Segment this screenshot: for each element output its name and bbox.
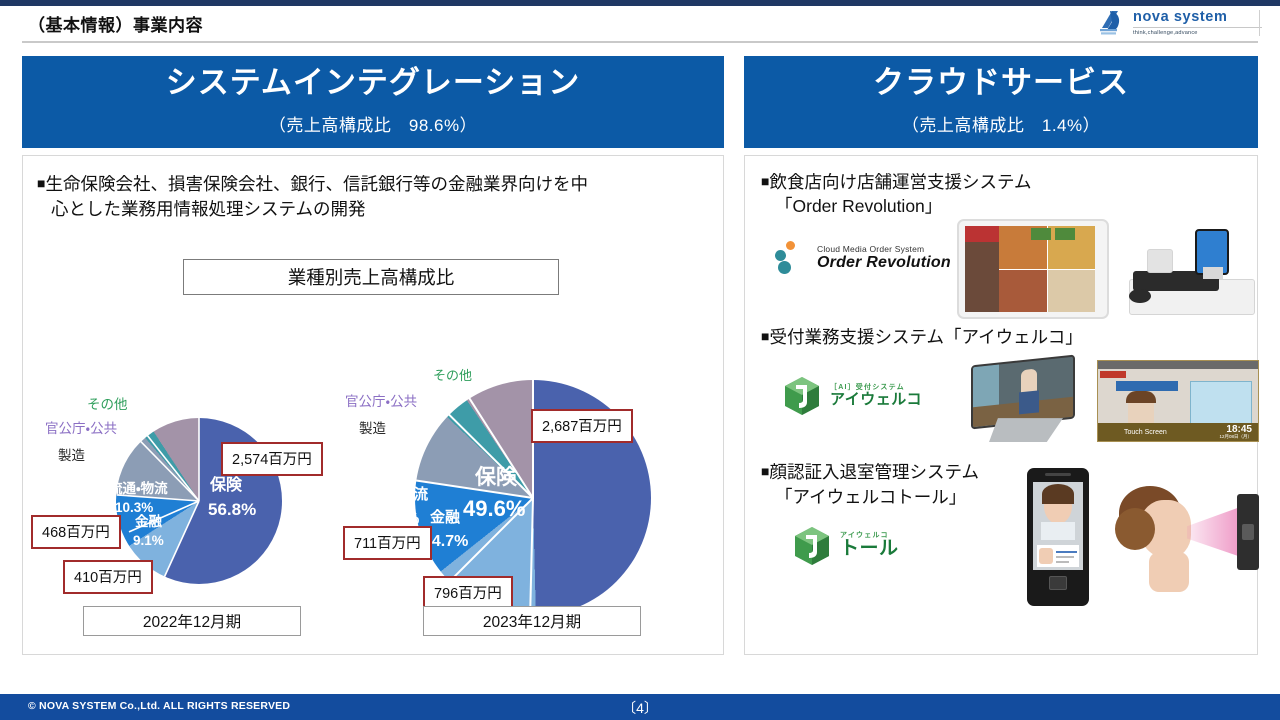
brand-logo-text: nova system think,challenge,advance [1133, 10, 1262, 35]
right-panel-header: クラウドサービス （売上高構成比 1.4%） [744, 56, 1258, 148]
brand-logo: nova system think,challenge,advance [1096, 6, 1262, 40]
order-revolution-logo-text: Cloud Media Order System Order Revolutio… [817, 244, 951, 272]
pie2023-label-seizo: 製造 [359, 421, 386, 437]
left-bullet-text: ■生命保険会社、損害保険会社、銀行、信託銀行等の金融業界向けを中 心とした業務用… [37, 172, 705, 223]
order-revolution-logo: Cloud Media Order System Order Revolutio… [775, 241, 951, 275]
iwelcome-logo: ［AI］受付システム アイウェルコ [783, 376, 922, 416]
nova-system-logo-icon [1096, 8, 1126, 38]
left-bullet-line1: 生命保険会社、損害保険会社、銀行、信託銀行等の金融業界向けを中 [45, 174, 588, 194]
left-panel-header: システムインテグレーション （売上高構成比 98.6%） [22, 56, 724, 148]
page-number: 〔4〕 [0, 698, 1280, 718]
page-title: （基本情報）事業内容 [28, 11, 203, 36]
iwelcome-toll-logo-text: アイウェルコ トール [840, 532, 899, 561]
left-panel-body: ■生命保険会社、損害保険会社、銀行、信託銀行等の金融業界向けを中 心とした業務用… [22, 155, 724, 655]
period-label-2022: 2022年12月期 [83, 606, 301, 636]
left-bullet-line2: 心とした業務用情報処理システムの開発 [37, 197, 705, 222]
pie2022-label-hoken: 保険 [210, 477, 242, 496]
section2-figures: ［AI］受付システム アイウェルコ [761, 350, 1247, 456]
section3-figures: アイウェルコ トール [761, 510, 1247, 610]
left-panel-subtitle: （売上高構成比 98.6%） [28, 111, 718, 136]
logo-divider [1259, 10, 1260, 36]
iwelcome-toll-hex-icon [793, 526, 831, 566]
kiosk-screen-mock: Touch Screen 18:45 12月08日（月） [1097, 360, 1259, 442]
pie2023-pct-hoken: 49.6% [463, 496, 525, 522]
kiosk-date-label: 12月08日（月） [1219, 434, 1252, 440]
surface-tablet-mock [967, 360, 1079, 446]
pos-printer-mock [1129, 223, 1259, 319]
pie2023-label-hoken: 保険 [475, 466, 517, 491]
pie2023-label-kinyu: 金融 [430, 509, 460, 527]
pie2022-pct-hoken: 56.8% [208, 500, 256, 520]
pie2023-label-kankocho: 官公庁・公共 [345, 394, 417, 410]
right-panel-subtitle: （売上高構成比 1.4%） [750, 111, 1252, 136]
right-panel-title: クラウドサービス [750, 65, 1252, 102]
toll-logo-big: トール [840, 539, 899, 560]
footer-bar: © NOVA SYSTEM Co.,Ltd. ALL RIGHTS RESERV… [0, 694, 1280, 720]
section3-line1: 顔認証入退室管理システム [769, 462, 978, 482]
pie2023-label-sonota: その他 [433, 368, 472, 383]
pie2022-callout-hoken: 2,574百万円 [221, 442, 323, 476]
left-panel-title: システムインテグレーション [28, 65, 718, 102]
section1-figures: Cloud Media Order System Order Revolutio… [761, 219, 1247, 321]
right-column: クラウドサービス （売上高構成比 1.4%） ■飲食店向け店舗運営支援システム … [744, 56, 1258, 655]
pie2022-pct-kinyu: 9.1% [133, 533, 164, 549]
tablet-device-mock [957, 219, 1109, 319]
pie2022-callout-kinyu: 410百万円 [63, 560, 153, 594]
pie2022-label-sonota: その他 [87, 397, 128, 413]
period-label-2023: 2023年12月期 [423, 606, 641, 636]
pie2022-label-kinyu: 金融 [135, 514, 162, 530]
pie2023-callout-hoken: 2,687百万円 [531, 409, 633, 443]
iwelcome-hex-icon [783, 376, 821, 416]
pie2022-label-ryutsu: 流通・物流 [109, 481, 168, 497]
kiosk-touch-label: Touch Screen [1124, 429, 1167, 436]
or-logo-big: Order Revolution [817, 254, 951, 272]
order-revolution-dots-icon [775, 241, 809, 275]
pie2022-pct-ryutsu: 10.3% [115, 500, 153, 516]
cloud-section-iwelcome: ■受付業務支援システム「アイウェルコ」 ［AI］受付システム ア [761, 325, 1247, 456]
face-recognition-terminal-mock [1027, 468, 1089, 606]
cloud-section-iwelcome-toll: ■顔認証入退室管理システム 「アイウェルコトール」 アイウェルコ [761, 460, 1247, 610]
section1-line1: 飲食店向け店舗運営支援システム [769, 172, 1031, 192]
iwelcome-logo-text: ［AI］受付システム アイウェルコ [830, 384, 922, 408]
chart-caption-box: 業種別売上高構成比 [183, 259, 559, 295]
section1-line2: 「Order Revolution」 [761, 194, 1247, 219]
section2-heading: ■受付業務支援システム「アイウェルコ」 [761, 325, 1247, 350]
pie2022-label-seizo: 製造 [58, 448, 85, 464]
pie2023-label-ryutsu: 流通・物流 [363, 486, 428, 504]
iwelcome-logo-big: アイウェルコ [830, 392, 922, 409]
pie2023-callout-kinyu: 796百万円 [423, 576, 513, 610]
cloud-section-order-revolution: ■飲食店向け店舗運営支援システム 「Order Revolution」 Clou… [761, 170, 1247, 322]
section2-line1: 受付業務支援システム「アイウェルコ」 [769, 327, 1082, 347]
brand-name: nova system [1133, 10, 1262, 27]
right-panel-body: ■飲食店向け店舗運営支援システム 「Order Revolution」 Clou… [744, 155, 1258, 655]
iwelcome-toll-logo: アイウェルコ トール [793, 526, 899, 566]
section1-heading: ■飲食店向け店舗運営支援システム 「Order Revolution」 [761, 170, 1247, 220]
pie2023-callout-ryutsu: 711百万円 [343, 526, 432, 560]
brand-tagline: think,challenge,advance [1133, 30, 1262, 36]
pie2022-callout-ryutsu: 468百万円 [31, 515, 121, 549]
or-logo-small: Cloud Media Order System [817, 244, 951, 254]
pie2022-label-kankocho: 官公庁・公共 [45, 421, 117, 437]
left-column: システムインテグレーション （売上高構成比 98.6%） ■生命保険会社、損害保… [22, 56, 724, 655]
top-accent-bar [0, 0, 1280, 6]
title-divider [22, 41, 1258, 43]
face-scan-illustration [1113, 482, 1263, 602]
